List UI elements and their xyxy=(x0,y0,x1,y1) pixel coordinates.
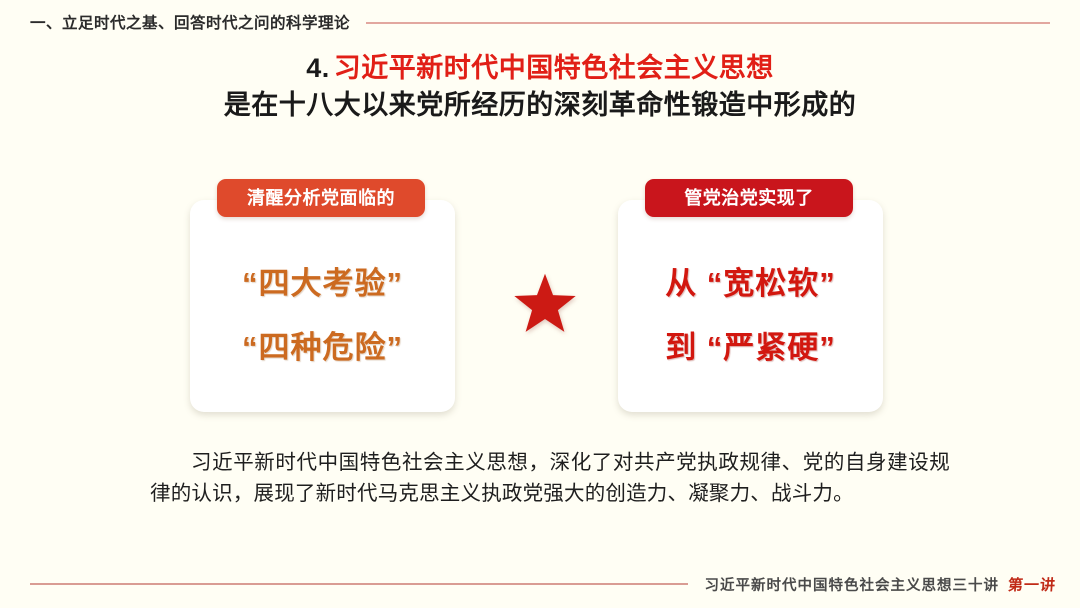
card-right-badge: 管党治党实现了 xyxy=(645,179,853,217)
slide-footer: 习近平新时代中国特色社会主义思想三十讲 第一讲 xyxy=(30,572,1068,596)
footer-series-title: 习近平新时代中国特色社会主义思想三十讲 xyxy=(704,574,999,595)
card-left: “四大考验” “四种危险” xyxy=(190,200,455,412)
body-paragraph: 习近平新时代中国特色社会主义思想，深化了对共产党执政规律、党的自身建设规律的认识… xyxy=(150,447,950,509)
slide-header: 一、立足时代之基、回答时代之问的科学理论 xyxy=(30,8,1050,36)
card-left-badge: 清醒分析党面临的 xyxy=(217,179,425,217)
page-title-line-2: 是在十八大以来党所经历的深刻革命性锻造中形成的 xyxy=(0,86,1080,124)
card-right: 从 “宽松软” 到 “严紧硬” xyxy=(618,200,883,412)
header-divider xyxy=(366,22,1050,24)
footer-lecture-label: 第一讲 xyxy=(1007,574,1056,595)
page-title-line-1: 4.习近平新时代中国特色社会主义思想 xyxy=(0,50,1080,86)
slide-canvas: 一、立足时代之基、回答时代之问的科学理论 4.习近平新时代中国特色社会主义思想 … xyxy=(0,0,1080,608)
card-right-phrase-2: 到 “严紧硬” xyxy=(618,316,883,380)
section-heading: 一、立足时代之基、回答时代之问的科学理论 xyxy=(30,11,350,33)
title-number: 4. xyxy=(306,53,330,83)
card-right-phrase-1: 从 “宽松软” xyxy=(618,252,883,316)
card-left-body: “四大考验” “四种危险” xyxy=(190,252,455,380)
card-right-body: 从 “宽松软” 到 “严紧硬” xyxy=(618,252,883,380)
title-highlight-text: 习近平新时代中国特色社会主义思想 xyxy=(334,53,774,83)
card-left-phrase-1: “四大考验” xyxy=(190,252,455,316)
footer-divider xyxy=(30,583,688,585)
star-icon xyxy=(511,271,579,339)
title-block: 4.习近平新时代中国特色社会主义思想 是在十八大以来党所经历的深刻革命性锻造中形… xyxy=(0,50,1080,124)
card-left-phrase-2: “四种危险” xyxy=(190,316,455,380)
